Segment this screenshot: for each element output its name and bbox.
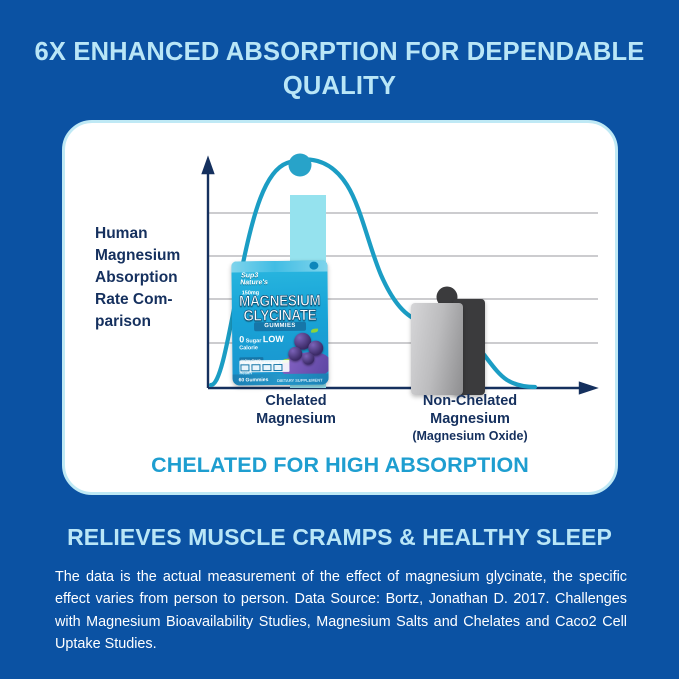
- benefit-subheadline: RELIEVES MUSCLE CRAMPS & HEALTHY SLEEP: [0, 524, 679, 551]
- marker-chelated: [289, 154, 312, 177]
- leaf-icon: [311, 329, 318, 333]
- disclaimer-text: The data is the actual measurement of th…: [55, 566, 627, 655]
- supplement-facts-box: [239, 360, 289, 373]
- bar-non-chelated-light: [411, 303, 463, 395]
- product-name: MAGNESIUM GLYCINATE: [236, 293, 324, 324]
- berry-icon: [288, 347, 302, 361]
- package-hang-hole: [309, 262, 318, 270]
- brand-logo: Sup3 Nature's: [240, 272, 270, 287]
- fact-cell: [262, 364, 271, 371]
- claim-sugar-value: 0: [239, 334, 244, 344]
- page-headline: 6X ENHANCED ABSORPTION FOR DEPENDABLE QU…: [0, 36, 679, 103]
- fact-cell: [240, 364, 249, 371]
- chart-tagline: CHELATED FOR HIGH ABSORPTION: [65, 453, 615, 478]
- category-2-line-2: Magnesium: [385, 411, 555, 429]
- berry-icon: [302, 353, 314, 365]
- supplement-label: DIETARY SUPPLEMENT: [277, 378, 323, 383]
- category-1-line-1: Chelated: [226, 393, 366, 411]
- claim-sugar-label: Sugar: [246, 338, 262, 344]
- chart-card: Human Magnesium Absorption Rate Com-pari…: [62, 120, 618, 495]
- fact-cell: [273, 364, 282, 371]
- brand-line-2: Nature's: [240, 279, 269, 287]
- package-bottom-seal: 60 Gummies DIETARY SUPPLEMENT: [233, 373, 329, 385]
- category-label-chelated: Chelated Magnesium: [226, 393, 366, 428]
- product-count: 60 Gummies: [239, 377, 269, 383]
- category-1-line-2: Magnesium: [226, 411, 366, 429]
- category-2-line-1: Non-Chelated: [385, 393, 555, 411]
- product-package: Sup3 Nature's 150mg MAGNESIUM GLYCINATE …: [231, 261, 328, 386]
- category-label-non-chelated: Non-Chelated Magnesium (Magnesium Oxide): [385, 393, 555, 445]
- fact-cell: [251, 364, 260, 371]
- package-top-seal: [231, 261, 327, 273]
- category-2-subtext: (Magnesium Oxide): [385, 429, 555, 444]
